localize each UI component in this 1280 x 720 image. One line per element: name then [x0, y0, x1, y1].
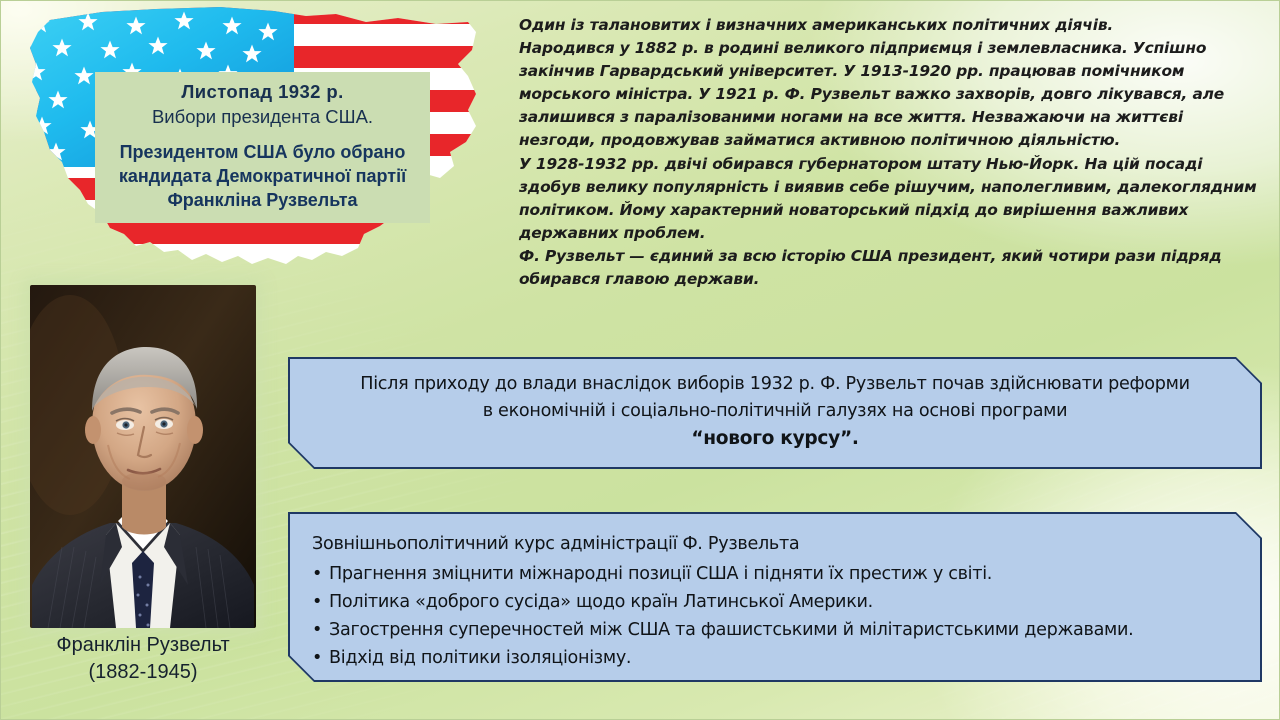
- title-card-block: Президентом США було обрано кандидата Де…: [101, 141, 424, 213]
- reforms-box-text: Після приходу до влади внаслідок виборів…: [288, 357, 1262, 452]
- reforms-line-3-new-deal: “нового курсу”.: [318, 425, 1232, 452]
- portrait-photo-image: [30, 285, 256, 628]
- roosevelt-portrait: [30, 285, 256, 628]
- title-card-block-line3: Франкліна Рузвельта: [101, 189, 424, 213]
- reforms-callout-box: Після приходу до влади внаслідок виборів…: [288, 357, 1262, 469]
- portrait-caption: Франклін Рузвельт (1882-1945): [10, 632, 276, 686]
- election-title-card: Листопад 1932 р. Вибори президента США. …: [95, 72, 430, 223]
- list-item: Прагнення зміцнити міжнародні позиції СШ…: [312, 560, 1238, 588]
- bio-paragraph-3: У 1928-1932 рр. двічі обирався губернато…: [519, 153, 1264, 245]
- biography-text-block: Один із талановитих і визначних американ…: [519, 14, 1264, 291]
- title-card-line2: Вибори президента США.: [101, 105, 424, 129]
- slide-canvas: Листопад 1932 р. Вибори президента США. …: [0, 0, 1280, 720]
- title-card-block-line1: Президентом США було обрано: [101, 141, 424, 165]
- portrait-caption-name: Франклін Рузвельт: [10, 632, 276, 659]
- foreign-policy-callout-box: Зовнішньополітичний курс адміністрації Ф…: [288, 512, 1262, 682]
- list-item: Загострення суперечностей між США та фаш…: [312, 616, 1238, 644]
- list-item: Відхід від політики ізоляціонізму.: [312, 644, 1238, 672]
- reforms-line-2: в економічній і соціально-політичній гал…: [318, 398, 1232, 425]
- bio-paragraph-2: Народився у 1882 р. в родині великого пі…: [519, 37, 1264, 152]
- list-item: Політика «доброго сусіда» щодо країн Лат…: [312, 588, 1238, 616]
- bio-paragraph-1: Один із талановитих і визначних американ…: [519, 14, 1264, 37]
- bio-paragraph-4: Ф. Рузвельт — єдиний за всю історію США …: [519, 245, 1264, 291]
- reforms-line-1: Після приходу до влади внаслідок виборів…: [318, 371, 1232, 398]
- portrait-caption-years: (1882-1945): [10, 659, 276, 686]
- foreign-policy-heading: Зовнішньополітичний курс адміністрації Ф…: [312, 530, 1238, 558]
- foreign-policy-box-text: Зовнішньополітичний курс адміністрації Ф…: [288, 512, 1262, 672]
- title-card-line1: Листопад 1932 р.: [101, 80, 424, 104]
- foreign-policy-list: Прагнення зміцнити міжнародні позиції СШ…: [312, 560, 1238, 672]
- title-card-block-line2: кандидата Демократичної партії: [101, 165, 424, 189]
